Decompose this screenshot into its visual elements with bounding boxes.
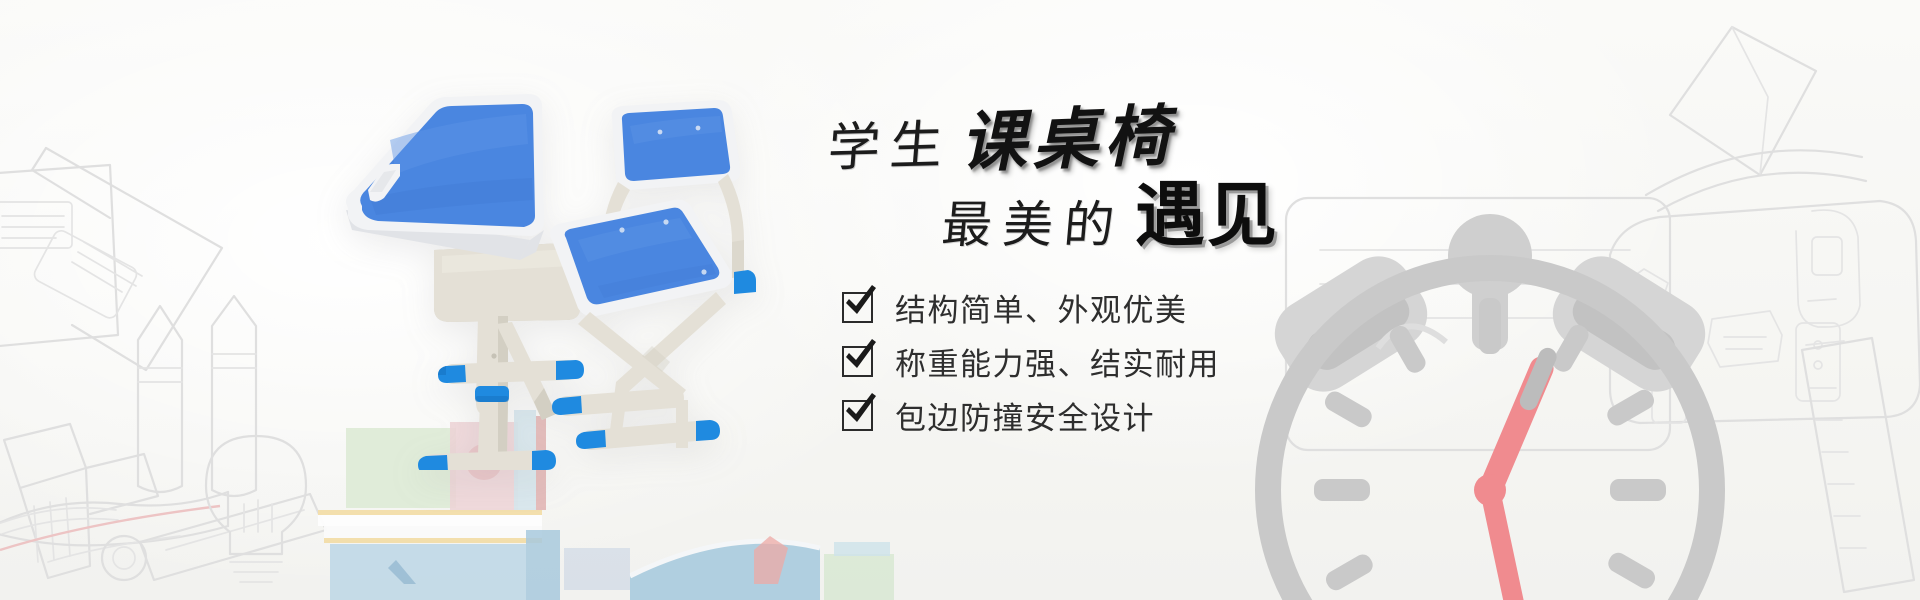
feature-label: 包边防撞安全设计: [895, 393, 1155, 438]
feature-label: 结构简单、外观优美: [895, 285, 1188, 330]
checkbox-checked-icon: [842, 400, 873, 431]
headline-line2-light: 最美的: [940, 200, 1127, 250]
feature-label: 称重能力强、结实耐用: [895, 339, 1220, 384]
headline-line1-light: 学生: [826, 120, 954, 175]
headline-line-1: 学生 课桌椅: [818, 96, 1458, 174]
feature-item: 包边防撞安全设计: [842, 388, 1458, 442]
checkbox-checked-icon: [842, 292, 873, 323]
promo-banner: 学生 课桌椅 最美的 遇见 结构简单、外观优美 称重能力强、结实耐用: [0, 0, 1920, 600]
checkbox-checked-icon: [842, 346, 873, 377]
headline-line-2: 最美的 遇见: [818, 178, 1458, 250]
headline-line1-bold: 课桌椅: [959, 104, 1177, 177]
feature-item: 结构简单、外观优美: [842, 280, 1458, 334]
headline-line2-bold: 遇见: [1135, 180, 1279, 250]
feature-item: 称重能力强、结实耐用: [842, 334, 1458, 388]
chair-graphic: [550, 100, 756, 450]
product-photo-desk-and-chair: [330, 70, 810, 470]
desk-graphic: [346, 94, 584, 470]
copy-block: 学生 课桌椅 最美的 遇见 结构简单、外观优美 称重能力强、结实耐用: [818, 96, 1458, 442]
feature-list: 结构简单、外观优美 称重能力强、结实耐用 包边防撞安全设计: [818, 280, 1458, 442]
